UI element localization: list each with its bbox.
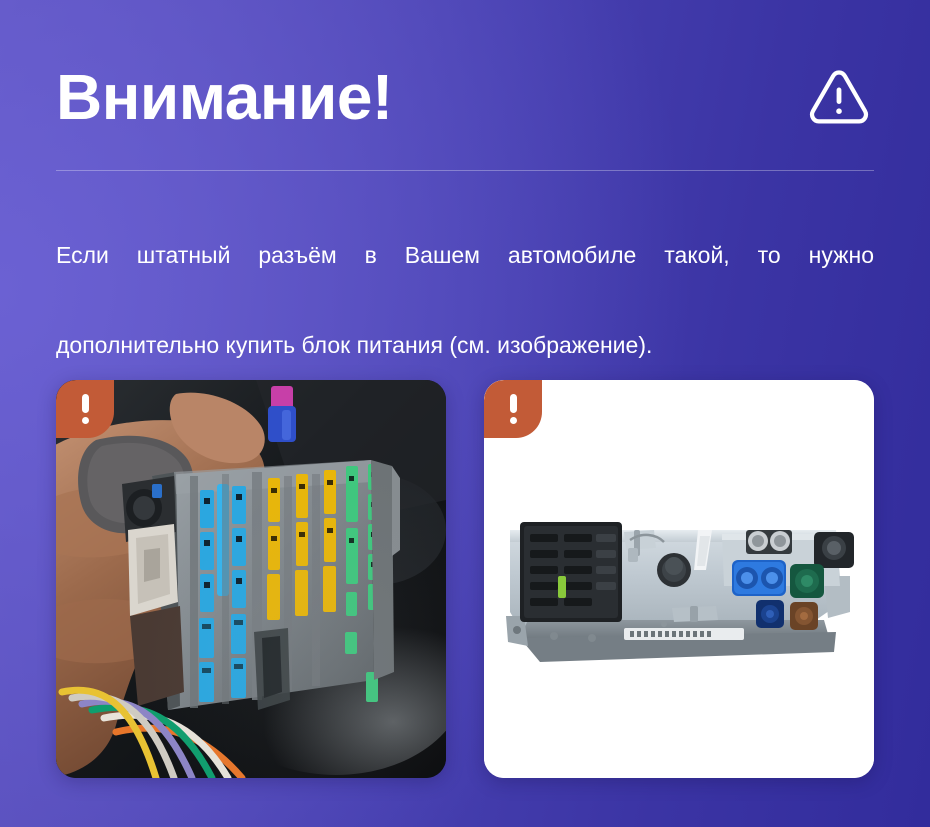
body-text-line-1: Если штатный разъём в Вашем автомобиле т… — [56, 233, 874, 323]
stock-connector-image — [56, 380, 446, 778]
page-title: Внимание! — [56, 61, 393, 133]
body-text-line-2: дополнительно купить блок питания (см. и… — [56, 323, 874, 368]
power-supply-unit-image — [484, 380, 874, 778]
warning-triangle-icon — [806, 64, 872, 130]
header: Внимание! — [56, 52, 874, 142]
exclamation-glyph — [82, 394, 89, 424]
card-power-supply-unit[interactable] — [484, 380, 874, 778]
header-divider — [56, 170, 874, 171]
card-stock-connector[interactable] — [56, 380, 446, 778]
warning-banner: Внимание! Если штатный разъём в Вашем ав… — [0, 0, 930, 827]
exclamation-icon — [484, 380, 542, 438]
exclamation-glyph — [510, 394, 517, 424]
body-text: Если штатный разъём в Вашем автомобиле т… — [56, 233, 874, 368]
exclamation-icon — [56, 380, 114, 438]
image-cards — [56, 380, 874, 778]
